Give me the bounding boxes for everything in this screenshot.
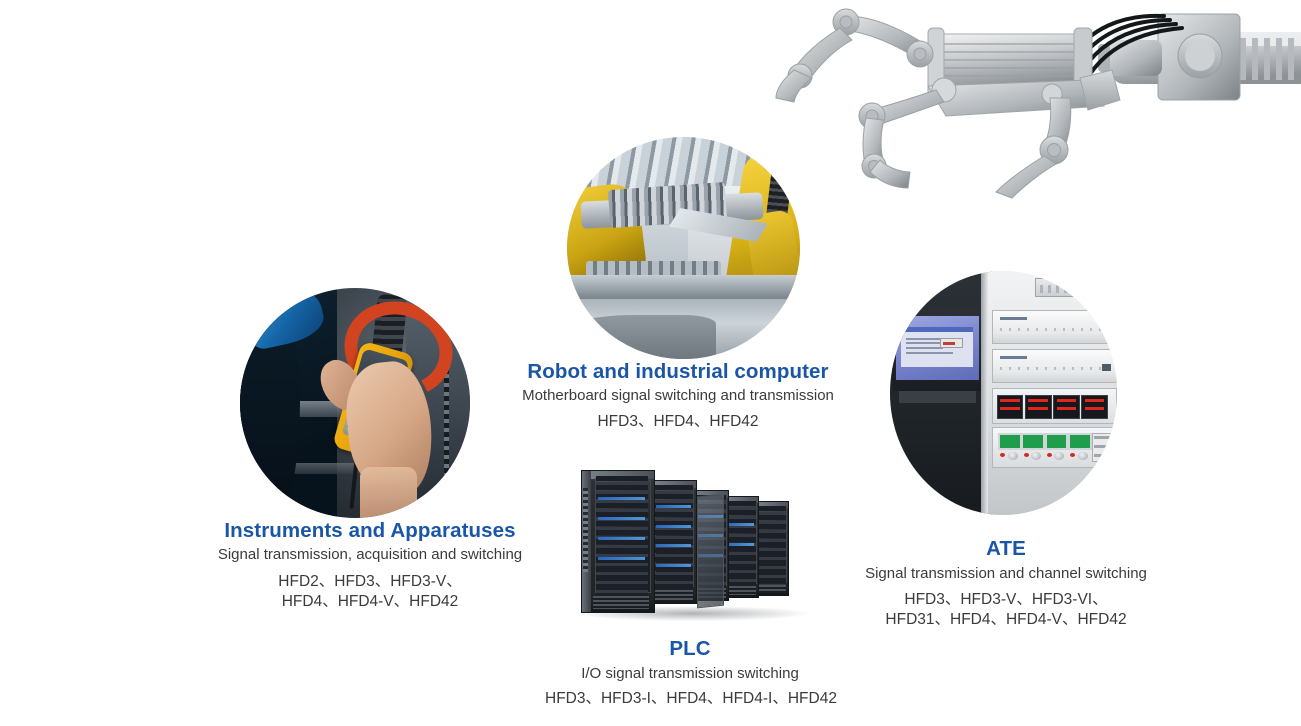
models-line: HFD2、HFD3、HFD3-V、 (211, 572, 529, 592)
clamp-meter-in-hand-image (240, 288, 470, 518)
section-title-robot: Robot and industrial computer (516, 360, 840, 384)
section-models-instruments: HFD2、HFD3、HFD3-V、 HFD4、HFD4-V、HFD42 (211, 572, 529, 612)
caption-robot: Robot and industrial computer Motherboar… (516, 360, 840, 432)
caption-ate: ATE Signal transmission and channel swit… (862, 537, 1150, 630)
models-line: HFD4、HFD4-V、HFD42 (211, 592, 529, 612)
ate-test-rack-image (890, 271, 1117, 515)
robotic-gripper-arm-image (760, 0, 1301, 199)
section-models-robot: HFD3、HFD4、HFD42 (516, 412, 840, 432)
section-title-plc: PLC (545, 637, 835, 661)
section-subtitle-instruments: Signal transmission, acquisition and swi… (211, 546, 529, 565)
section-subtitle-ate: Signal transmission and channel switchin… (862, 565, 1150, 584)
models-line: HFD3、HFD3-V、HFD3-VI、 (862, 590, 1150, 610)
models-line: HFD3、HFD4、HFD42 (516, 412, 840, 432)
section-subtitle-robot: Motherboard signal switching and transmi… (516, 387, 840, 406)
section-title-instruments: Instruments and Apparatuses (211, 519, 529, 543)
models-line: HFD31、HFD4、HFD4-V、HFD42 (862, 610, 1150, 630)
page-canvas: Instruments and Apparatuses Signal trans… (0, 0, 1301, 726)
models-line: HFD3、HFD3-I、HFD4、HFD4-I、HFD42 (545, 689, 835, 709)
section-subtitle-plc: I/O signal transmission switching (545, 665, 835, 684)
factory-robot-arms-image (567, 137, 800, 359)
server-cabinet-row-image (566, 458, 814, 624)
caption-plc: PLC I/O signal transmission switching HF… (545, 637, 835, 709)
caption-instruments: Instruments and Apparatuses Signal trans… (211, 519, 529, 612)
section-models-plc: HFD3、HFD3-I、HFD4、HFD4-I、HFD42 (545, 689, 835, 709)
section-title-ate: ATE (862, 537, 1150, 561)
section-models-ate: HFD3、HFD3-V、HFD3-VI、 HFD31、HFD4、HFD4-V、H… (862, 590, 1150, 630)
